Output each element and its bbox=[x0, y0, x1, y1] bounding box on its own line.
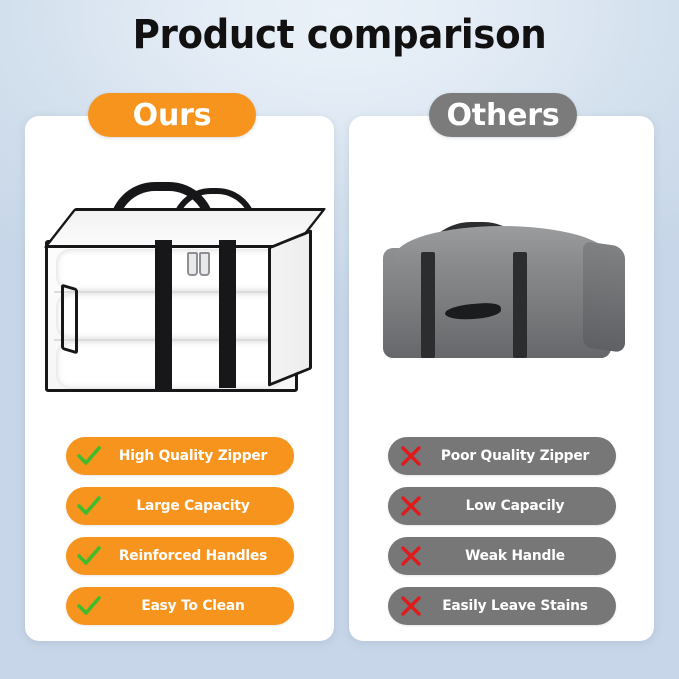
comparison-card-others: Poor Quality Zipper Low Capacily Weak Ha… bbox=[349, 116, 654, 641]
check-icon bbox=[74, 443, 104, 469]
zipper-pull-left bbox=[187, 252, 198, 276]
feature-label: Reinforced Handles bbox=[108, 548, 277, 564]
duffel-strap-right bbox=[513, 252, 527, 358]
feature-pill[interactable]: Easy To Clean bbox=[66, 587, 294, 625]
clear-storage-bag-illustration bbox=[43, 182, 311, 396]
comparison-card-ours: High Quality Zipper Large Capacity Reinf… bbox=[25, 116, 334, 641]
page-title: Product comparison bbox=[24, 12, 655, 58]
feature-pill[interactable]: Easily Leave Stains bbox=[388, 587, 616, 625]
badge-ours: Ours bbox=[88, 93, 256, 137]
comparison-infographic: Product comparison bbox=[0, 0, 679, 679]
badge-others: Others bbox=[429, 93, 577, 137]
feature-pill[interactable]: Reinforced Handles bbox=[66, 537, 294, 575]
feature-list-others: Poor Quality Zipper Low Capacily Weak Ha… bbox=[349, 437, 654, 637]
duffel-side-panel bbox=[583, 241, 625, 353]
feature-label: Large Capacity bbox=[108, 498, 277, 514]
feature-pill[interactable]: Low Capacily bbox=[388, 487, 616, 525]
gray-duffel-bag-illustration bbox=[379, 222, 627, 372]
bag-side-grip-handle bbox=[61, 284, 78, 355]
bag-side-panel bbox=[268, 229, 312, 387]
cross-icon bbox=[396, 593, 426, 619]
feature-label: Easily Leave Stains bbox=[430, 598, 599, 614]
feature-label: Easy To Clean bbox=[108, 598, 277, 614]
check-icon bbox=[74, 493, 104, 519]
cross-icon bbox=[396, 443, 426, 469]
check-icon bbox=[74, 593, 104, 619]
bag-webbing-strap-left bbox=[155, 240, 172, 392]
duffel-strap-left bbox=[421, 252, 435, 358]
cross-icon bbox=[396, 543, 426, 569]
feature-label: Poor Quality Zipper bbox=[430, 448, 599, 464]
feature-label: Weak Handle bbox=[430, 548, 599, 564]
cross-icon bbox=[396, 493, 426, 519]
feature-pill[interactable]: Weak Handle bbox=[388, 537, 616, 575]
feature-list-ours: High Quality Zipper Large Capacity Reinf… bbox=[25, 437, 334, 637]
check-icon bbox=[74, 543, 104, 569]
feature-label: High Quality Zipper bbox=[108, 448, 277, 464]
zipper-pull-right bbox=[199, 252, 210, 276]
product-image-ours bbox=[25, 138, 334, 428]
feature-pill[interactable]: Large Capacity bbox=[66, 487, 294, 525]
bag-webbing-strap-right bbox=[219, 240, 236, 388]
feature-pill[interactable]: High Quality Zipper bbox=[66, 437, 294, 475]
feature-pill[interactable]: Poor Quality Zipper bbox=[388, 437, 616, 475]
product-image-others bbox=[349, 138, 654, 428]
feature-label: Low Capacily bbox=[430, 498, 599, 514]
